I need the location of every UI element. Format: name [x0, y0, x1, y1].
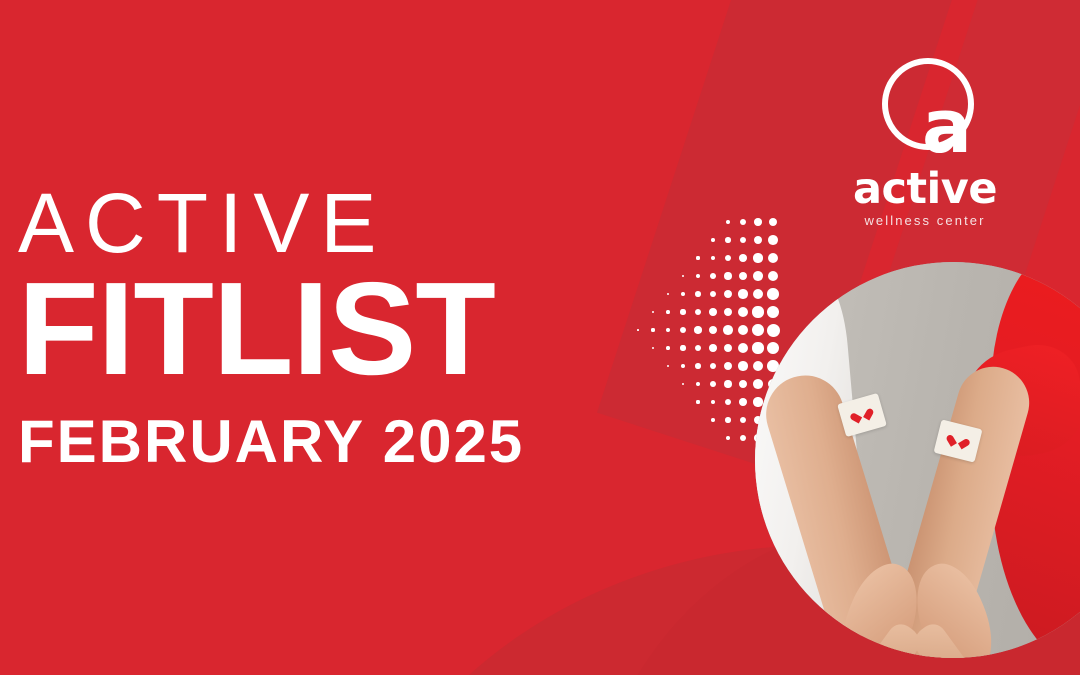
halftone-dot	[740, 219, 746, 225]
halftone-dot	[754, 218, 761, 225]
halftone-dot	[738, 325, 749, 336]
halftone-dot	[768, 235, 778, 245]
halftone-dot	[739, 254, 747, 262]
headline-block: ACTIVE FITLIST FEBRUARY 2025	[18, 183, 738, 472]
halftone-dot	[740, 237, 747, 244]
halftone-dot	[740, 417, 747, 424]
halftone-dot	[738, 307, 748, 317]
halftone-dot	[738, 343, 748, 353]
halftone-dot	[738, 361, 747, 370]
headline-line-month: FEBRUARY 2025	[18, 412, 738, 472]
heart-icon	[854, 407, 870, 422]
logo-tagline: wellness center	[845, 212, 1005, 230]
halftone-dot	[739, 398, 747, 406]
logo-mark-icon: a	[875, 56, 975, 162]
halftone-dot	[754, 236, 762, 244]
headline-line-fitlist: FITLIST	[18, 268, 738, 391]
photo-circle	[755, 262, 1080, 658]
heart-icon	[950, 433, 966, 448]
logo-wordmark: active	[845, 168, 1005, 210]
halftone-dot	[769, 218, 778, 226]
photo-image	[755, 262, 1080, 658]
halftone-dot	[740, 435, 746, 441]
headline-line-active: ACTIVE	[18, 183, 738, 264]
halftone-dot	[738, 289, 747, 298]
poster-canvas: ACTIVE FITLIST FEBRUARY 2025	[0, 0, 1080, 675]
halftone-dot	[739, 380, 748, 389]
logo-letter-a: a	[922, 94, 972, 160]
halftone-dot	[739, 272, 748, 281]
brand-logo: a active wellness center	[845, 56, 1005, 230]
